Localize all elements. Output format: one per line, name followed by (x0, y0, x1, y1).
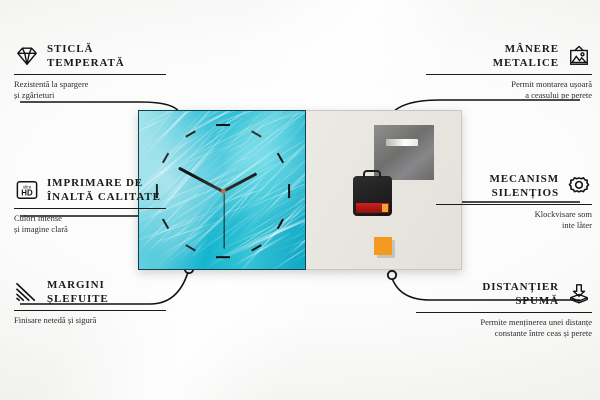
callout-title-line1: DISTANȚIER (482, 280, 559, 294)
second-hand (223, 192, 224, 249)
metal-hanger-plate (374, 125, 434, 180)
callout-divider (436, 204, 592, 205)
callout-divider (14, 74, 166, 75)
callout-desc-line2: a ceasului pe perete (426, 90, 592, 101)
callout-desc-line1: Permit montarea ușoară (426, 79, 592, 90)
callout-title-line2: SPUMĂ (482, 294, 559, 308)
callout-title-line2: TEMPERATĂ (47, 56, 125, 70)
callout-title-line1: MARGINI (47, 278, 109, 292)
callout-divider (426, 74, 592, 75)
clock-movement-mechanism (353, 176, 392, 216)
callout-title-line2: ȘLEFUITE (47, 292, 109, 306)
product-photo (138, 110, 462, 270)
product-feature-infographic: STICLĂ TEMPERATĂ Rezistentă la spargere … (0, 0, 600, 400)
callout-divider (14, 310, 166, 311)
hanging-frame-icon (566, 45, 592, 67)
ultra-hd-icon: ultra HD (14, 179, 40, 201)
callout-header: MARGINI ȘLEFUITE (14, 278, 166, 306)
svg-text:HD: HD (21, 189, 33, 198)
callout-title-line1: MÂNERE (493, 42, 559, 56)
clock-center-pivot (221, 189, 226, 194)
diamond-icon (14, 45, 40, 67)
callout-desc-line1: Rezistentă la spargere (14, 79, 166, 90)
callout-title-line1: IMPRIMARE DE (47, 176, 161, 190)
callout-title-line2: METALICE (493, 56, 559, 70)
callout-desc-line2: și zgârieturi (14, 90, 166, 101)
diagonal-lines-icon (14, 281, 40, 303)
callout-title-line1: MECANISM (489, 172, 559, 186)
callout-header: MÂNERE METALICE (426, 42, 592, 70)
callout-header: DISTANȚIER SPUMĂ (416, 280, 592, 308)
movement-hanging-tab (363, 170, 381, 178)
callout-tempered-glass: STICLĂ TEMPERATĂ Rezistentă la spargere … (14, 42, 166, 101)
callout-divider (14, 208, 166, 209)
callout-high-quality-print: ultra HD IMPRIMARE DE ÎNALTĂ CALITATE Cu… (14, 176, 166, 235)
callout-title-line2: SILENȚIOS (489, 186, 559, 200)
callout-metal-hooks: MÂNERE METALICE Permit montarea ușoară a… (426, 42, 592, 101)
callout-header: STICLĂ TEMPERATĂ (14, 42, 166, 70)
gear-icon (566, 175, 592, 197)
callout-desc-line2: constante între ceas și perete (416, 328, 592, 339)
hanger-slot (386, 139, 418, 146)
callout-header: MECANISM SILENȚIOS (436, 172, 592, 200)
callout-title-line1: STICLĂ (47, 42, 125, 56)
callout-foam-spacer: DISTANȚIER SPUMĂ Permite menținerea unei… (416, 280, 592, 339)
foam-spacer (374, 237, 392, 255)
callout-header: ultra HD IMPRIMARE DE ÎNALTĂ CALITATE (14, 176, 166, 204)
callout-title-line2: ÎNALTĂ CALITATE (47, 190, 161, 204)
callout-divider (416, 312, 592, 313)
callout-desc-line1: Finisare netedă și sigură (14, 315, 166, 326)
foam-spacer-icon (566, 283, 592, 305)
battery (356, 203, 389, 213)
callout-desc-line1: Klockvisare som (436, 209, 592, 220)
callout-desc-line2: și imagine clară (14, 224, 166, 235)
callout-desc-line2: inte låter (436, 220, 592, 231)
callout-silent-mechanism: MECANISM SILENȚIOS Klockvisare som inte … (436, 172, 592, 231)
callout-polished-edges: MARGINI ȘLEFUITE Finisare netedă și sigu… (14, 278, 166, 326)
callout-desc-line1: Culori intense (14, 213, 166, 224)
wire-endpoint-spacer (388, 271, 396, 279)
callout-desc-line1: Permite menținerea unei distanțe (416, 317, 592, 328)
